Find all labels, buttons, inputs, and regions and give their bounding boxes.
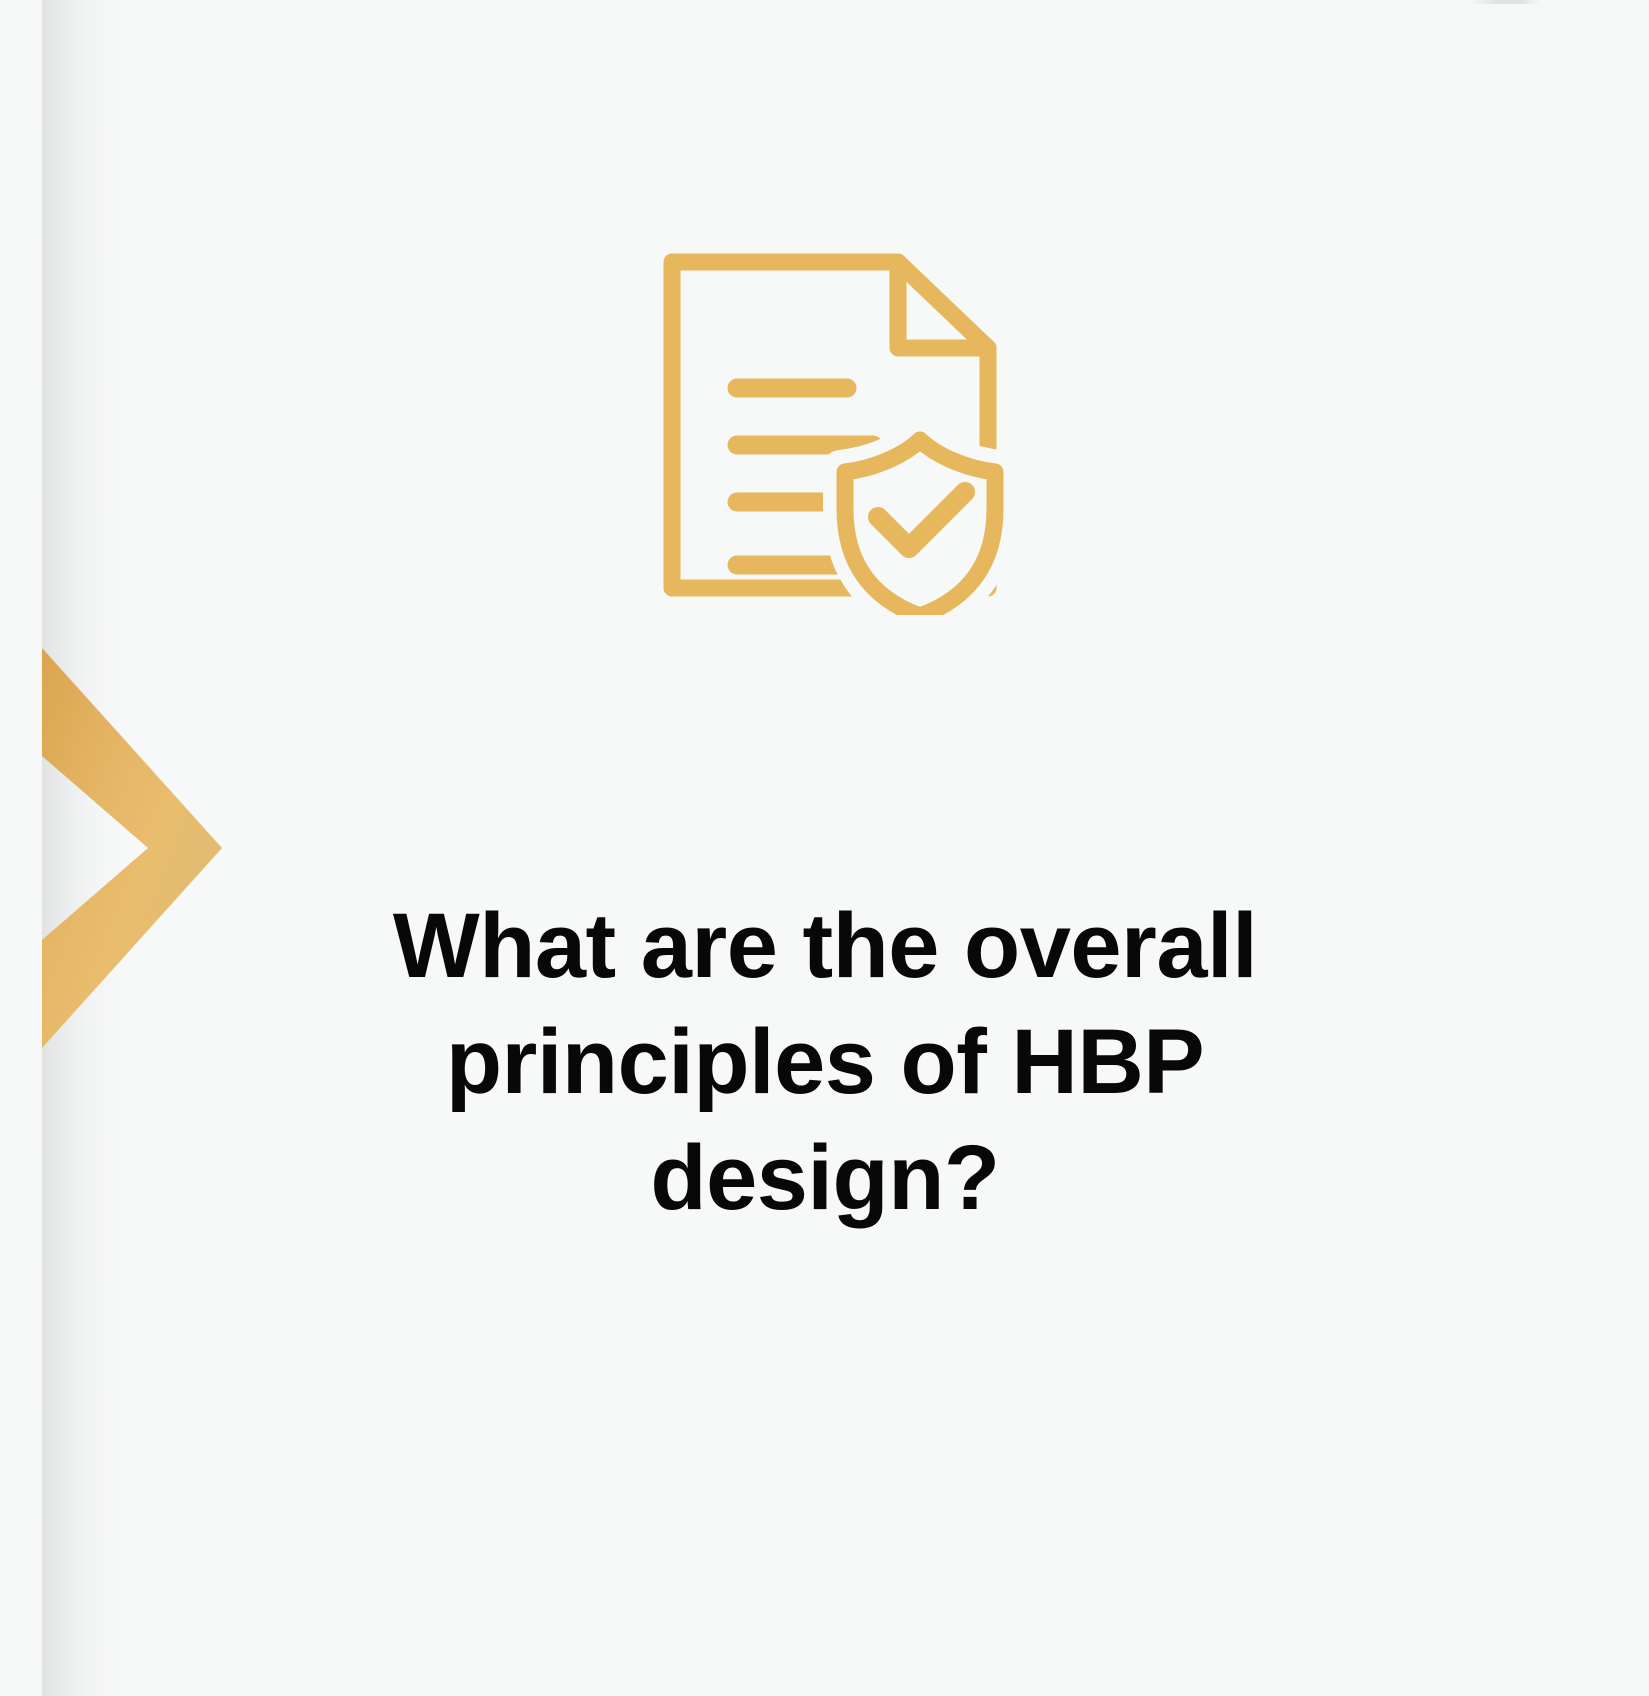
chevron-right-accent (0, 600, 260, 1100)
document-shield-icon (655, 245, 1005, 615)
slide-canvas: What are the overall principles of HBP d… (0, 0, 1649, 1696)
chevron-right-icon (0, 600, 260, 1100)
document-shield-graphic (655, 245, 1005, 615)
page-title: What are the overall principles of HBP d… (300, 888, 1350, 1236)
panel-top-shadow (1468, 0, 1540, 4)
